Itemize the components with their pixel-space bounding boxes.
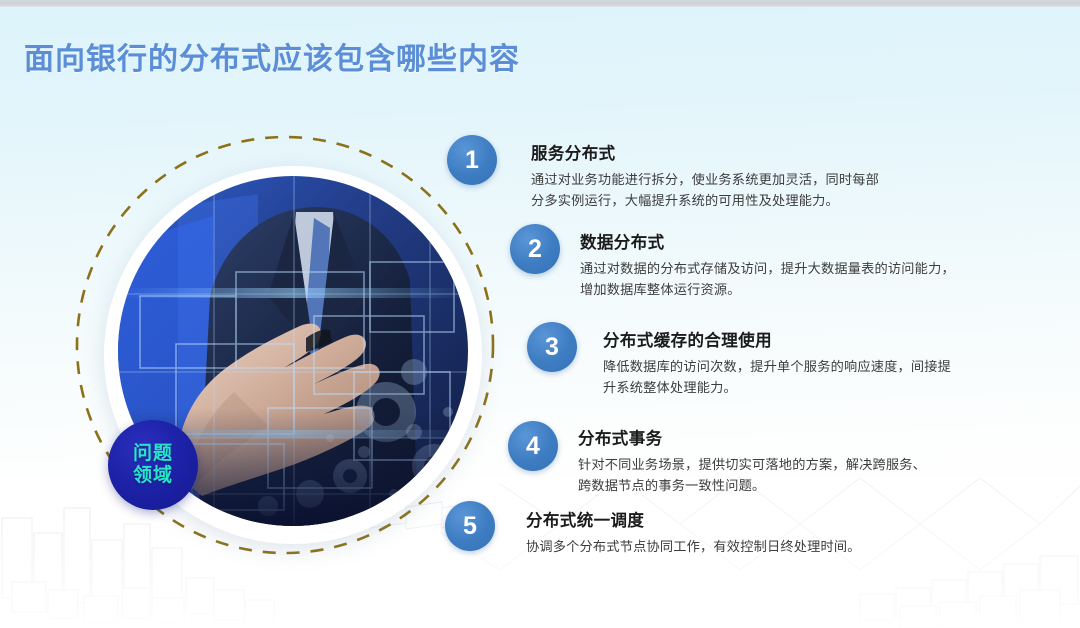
step-number-3-label: 3: [545, 333, 559, 362]
step-item-2-desc: 通过对数据的分布式存储及访问，提升大数据量表的访问能力， 增加数据库整体运行资源…: [580, 258, 955, 301]
slide-canvas: 面向银行的分布式应该包含哪些内容: [0, 0, 1080, 628]
step-number-2[interactable]: 2: [510, 224, 560, 274]
step-item-4-title: 分布式事务: [578, 425, 926, 449]
problem-domain-badge: 问题 领域: [108, 420, 198, 510]
step-item-2: 数据分布式 通过对数据的分布式存储及访问，提升大数据量表的访问能力， 增加数据库…: [580, 229, 955, 301]
step-item-2-title: 数据分布式: [580, 229, 955, 253]
step-item-3-title: 分布式缓存的合理使用: [603, 327, 951, 351]
step-item-3: 分布式缓存的合理使用 降低数据库的访问次数，提升单个服务的响应速度，间接提 升系…: [603, 327, 951, 399]
step-item-4-desc: 针对不同业务场景，提供切实可落地的方案，解决跨服务、 跨数据节点的事务一致性问题…: [578, 454, 926, 497]
step-item-1-desc: 通过对业务功能进行拆分，使业务系统更加灵活，同时每部 分多实例运行，大幅提升系统…: [531, 169, 879, 212]
step-item-5-desc: 协调多个分布式节点协同工作，有效控制日终处理时间。: [526, 536, 861, 557]
top-gray-strip: [0, 0, 1080, 7]
step-item-3-desc: 降低数据库的访问次数，提升单个服务的响应速度，间接提 升系统整体处理能力。: [603, 356, 951, 399]
step-number-4[interactable]: 4: [508, 421, 558, 471]
step-number-5-label: 5: [463, 512, 477, 541]
badge-line-1: 问题: [133, 443, 173, 465]
step-number-3[interactable]: 3: [527, 322, 577, 372]
step-number-4-label: 4: [526, 432, 540, 461]
step-item-4: 分布式事务 针对不同业务场景，提供切实可落地的方案，解决跨服务、 跨数据节点的事…: [578, 425, 926, 497]
page-title: 面向银行的分布式应该包含哪些内容: [24, 34, 520, 78]
step-item-5: 分布式统一调度 协调多个分布式节点协同工作，有效控制日终处理时间。: [526, 507, 861, 557]
step-number-1-label: 1: [465, 146, 479, 175]
step-number-1[interactable]: 1: [447, 135, 497, 185]
step-item-1: 服务分布式 通过对业务功能进行拆分，使业务系统更加灵活，同时每部 分多实例运行，…: [531, 140, 879, 212]
step-item-5-title: 分布式统一调度: [526, 507, 861, 531]
badge-line-2: 领域: [133, 465, 173, 487]
step-item-1-title: 服务分布式: [531, 140, 879, 164]
step-number-2-label: 2: [528, 235, 542, 264]
step-number-5[interactable]: 5: [445, 501, 495, 551]
